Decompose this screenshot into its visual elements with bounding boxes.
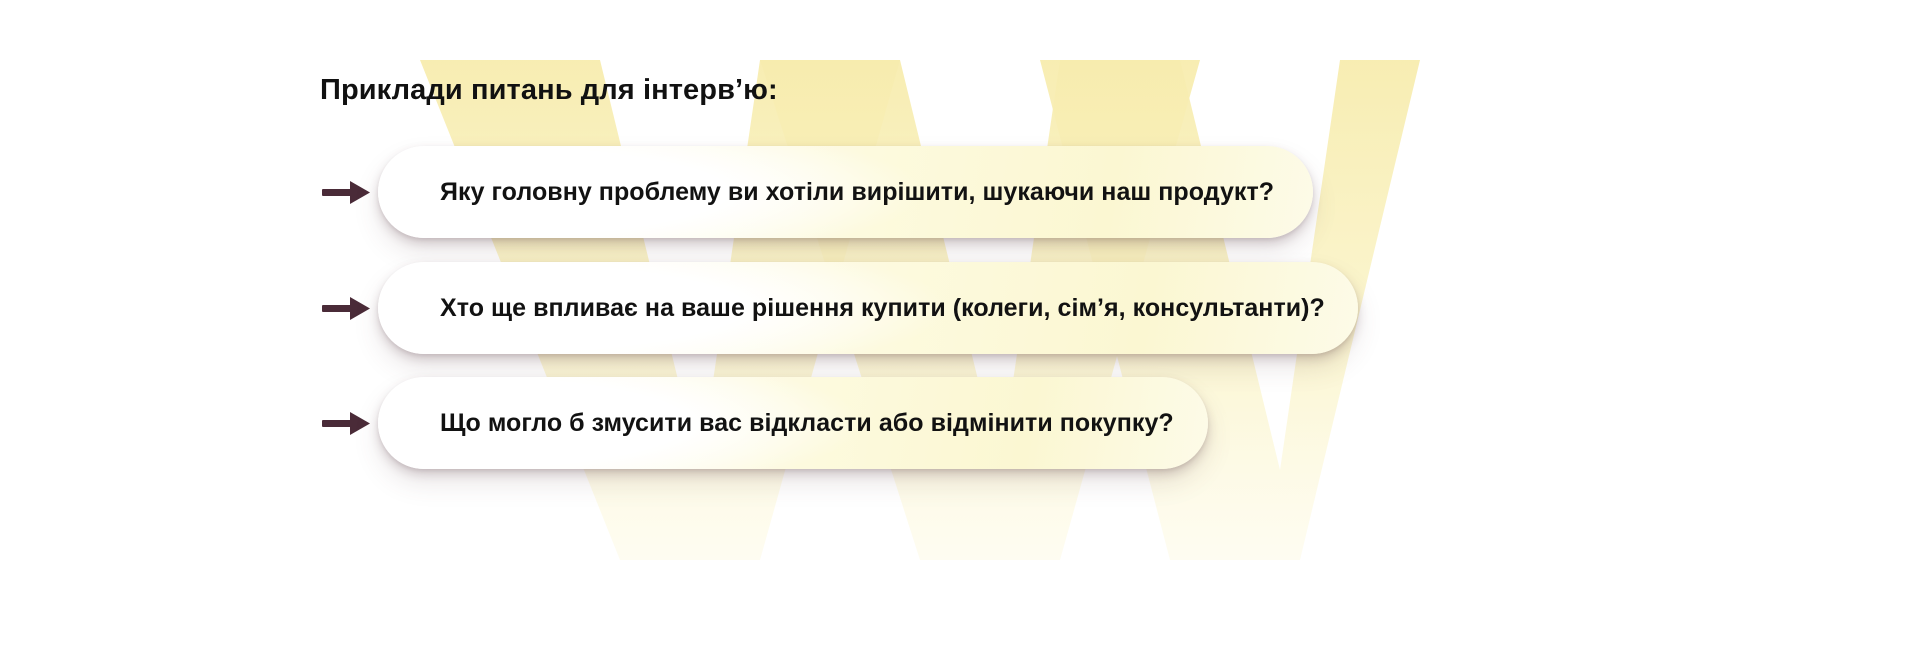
page-title: Приклади питань для інтерв’ю:: [320, 74, 778, 107]
question-row: Хто ще впливає на ваше рішення купити (к…: [320, 258, 1358, 358]
arrow-right-icon: [320, 288, 378, 328]
question-text: Що могло б змусити вас відкласти або від…: [378, 409, 1208, 438]
question-row: Що могло б змусити вас відкласти або від…: [320, 373, 1208, 473]
arrow-right-icon: [320, 172, 378, 212]
question-text: Яку головну проблему ви хотіли вирішити,…: [378, 178, 1313, 207]
question-pill[interactable]: Хто ще впливає на ваше рішення купити (к…: [378, 262, 1358, 354]
question-row: Яку головну проблему ви хотіли вирішити,…: [320, 142, 1313, 242]
question-pill[interactable]: Що могло б змусити вас відкласти або від…: [378, 377, 1208, 469]
question-text: Хто ще впливає на ваше рішення купити (к…: [378, 294, 1358, 323]
arrow-right-icon: [320, 403, 378, 443]
slide-content: Приклади питань для інтерв’ю: Яку головн…: [0, 0, 1920, 646]
question-pill[interactable]: Яку головну проблему ви хотіли вирішити,…: [378, 146, 1313, 238]
